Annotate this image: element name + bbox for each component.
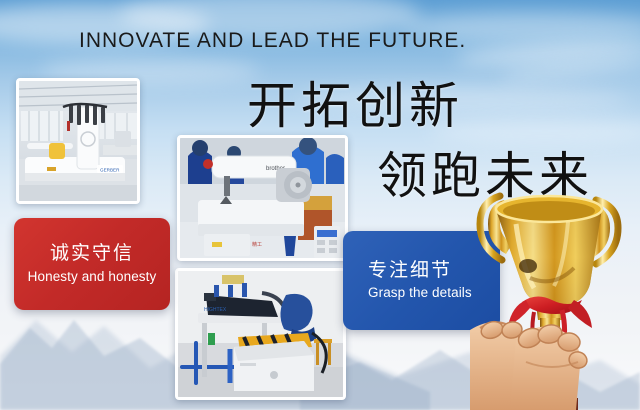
photo-pressing-machine: HIGHTEX [175, 268, 346, 400]
badge-details[interactable]: 专注细节 Grasp the details [343, 231, 500, 330]
svg-text:GERBER: GERBER [100, 168, 120, 173]
cloud-decoration [500, 54, 640, 83]
badge-details-cn: 专注细节 [368, 258, 452, 284]
badge-honesty-cn: 诚实守信 [50, 241, 134, 267]
photo-2-image: brother 精工 [180, 138, 345, 258]
svg-text:精工: 精工 [252, 241, 262, 248]
photo-3-image: HIGHTEX [178, 271, 343, 397]
headline-line-2: 领跑未来 [377, 136, 593, 208]
photo-sewing-machine: brother 精工 [177, 135, 348, 261]
badge-honesty-en: Honesty and honesty [28, 267, 157, 287]
headline-eyebrow: INNOVATE AND LEAD THE FUTURE. [79, 29, 466, 53]
photo-1-image: GERBER [19, 81, 137, 201]
svg-text:HIGHTEX: HIGHTEX [204, 307, 227, 313]
cloud-decoration [455, 37, 640, 68]
headline-line-1: 开拓创新 [247, 66, 463, 138]
promo-banner: INNOVATE AND LEAD THE FUTURE. 开拓创新 领跑未来 [0, 0, 640, 410]
photo-factory-workshop: GERBER [16, 78, 140, 204]
badge-details-en: Grasp the details [368, 283, 472, 303]
badge-honesty[interactable]: 诚实守信 Honesty and honesty [14, 218, 170, 310]
